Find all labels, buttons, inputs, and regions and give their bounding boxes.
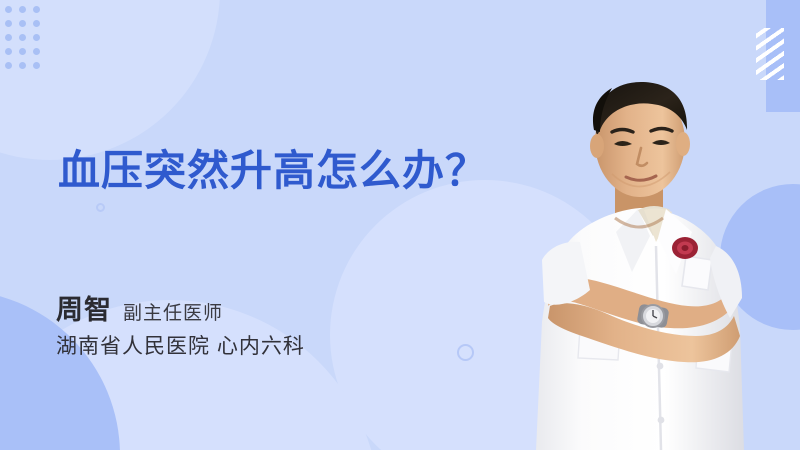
- ring-accent-icon: [457, 344, 474, 361]
- video-cover-card: 血压突然升高怎么办？ 周智 副主任医师 湖南省人民医院 心内六科: [0, 0, 800, 450]
- doctor-name: 周智: [56, 288, 112, 327]
- dot-grid-dot: [33, 20, 40, 27]
- doctor-title: 副主任医师: [123, 298, 223, 325]
- dot-grid-dot: [5, 48, 12, 55]
- dot-grid-dot: [5, 62, 12, 69]
- dot-grid-dot: [33, 62, 40, 69]
- dot-grid-dot: [19, 34, 26, 41]
- dot-grid-dot: [33, 48, 40, 55]
- page-title: 血压突然升高怎么办？: [58, 146, 488, 196]
- ring-accent-small-icon: [96, 203, 105, 212]
- dot-grid-dot: [5, 6, 12, 13]
- doctor-byline: 周智 副主任医师: [56, 288, 223, 327]
- dot-grid-dot: [19, 62, 26, 69]
- dot-grid-dot: [33, 6, 40, 13]
- dot-grid-dot: [33, 34, 40, 41]
- dot-grid-dot: [5, 34, 12, 41]
- doctor-affiliation: 湖南省人民医院 心内六科: [56, 330, 305, 360]
- doctor-portrait-image: [520, 60, 800, 450]
- dot-grid-dot: [5, 20, 12, 27]
- dot-grid-dot: [19, 20, 26, 27]
- dot-grid-dot: [19, 6, 26, 13]
- dot-grid-dot: [19, 48, 26, 55]
